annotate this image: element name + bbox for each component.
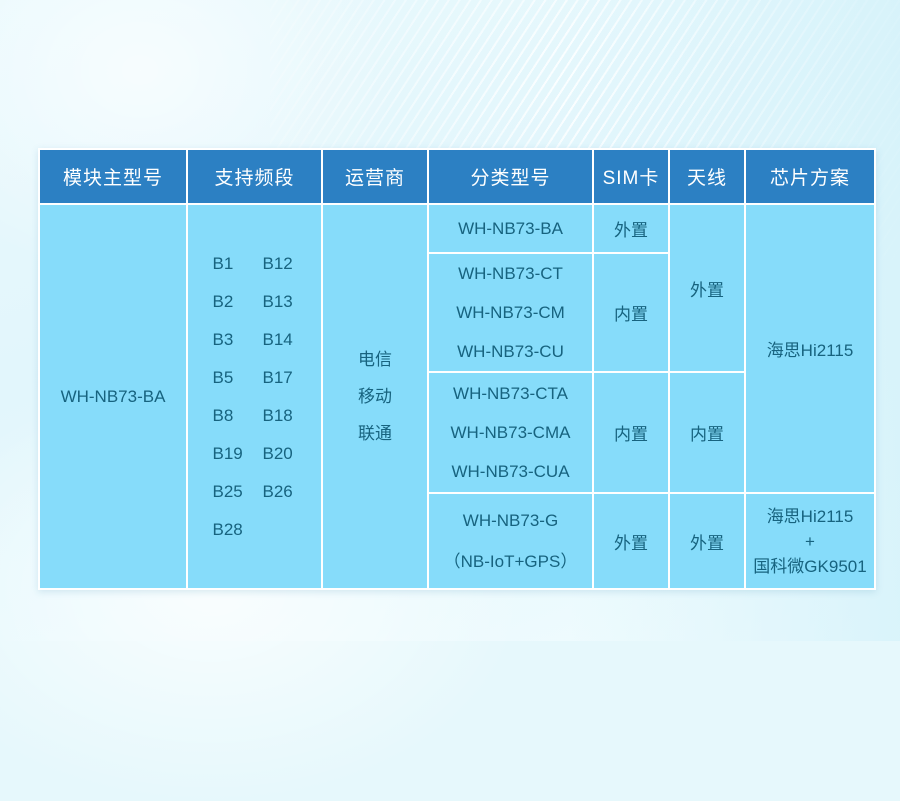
band-item: B28: [213, 511, 247, 549]
band-item: B14: [263, 321, 297, 359]
chipset-item: 海思Hi2115: [767, 504, 854, 529]
cell-sim: 内置: [593, 372, 669, 493]
header-antenna: 天线: [669, 149, 745, 204]
band-item: B12: [263, 245, 297, 283]
band-item: B13: [263, 283, 297, 321]
cell-category-models: WH-NB73-BA: [428, 204, 593, 253]
category-model-item: WH-NB73-CMA: [451, 413, 571, 452]
operator-item: 移动: [358, 378, 392, 415]
category-model-item: WH-NB73-CT: [458, 254, 563, 293]
table-header-row: 模块主型号 支持频段 运营商 分类型号 SIM卡 天线 芯片方案: [39, 149, 875, 204]
cell-sim: 外置: [593, 204, 669, 253]
header-main-model: 模块主型号: [39, 149, 187, 204]
operator-item: 联通: [358, 415, 392, 452]
category-model-list: WH-NB73-G （NB-IoT+GPS）: [429, 500, 592, 582]
category-model-list: WH-NB73-BA: [429, 209, 592, 248]
bands-grid: B1 B12 B2 B13 B3 B14 B5 B17 B8 B18 B19 B…: [188, 245, 321, 549]
cell-antenna: 外置: [669, 204, 745, 372]
band-item: B3: [213, 321, 247, 359]
header-category-model: 分类型号: [428, 149, 593, 204]
band-item: B20: [263, 435, 297, 473]
band-item: B26: [263, 473, 297, 511]
category-model-item: WH-NB73-BA: [458, 209, 563, 248]
band-item: B1: [213, 245, 247, 283]
cell-category-models: WH-NB73-CTA WH-NB73-CMA WH-NB73-CUA: [428, 372, 593, 493]
cell-sim: 外置: [593, 493, 669, 589]
category-model-list: WH-NB73-CT WH-NB73-CM WH-NB73-CU: [429, 254, 592, 371]
band-item: B2: [213, 283, 247, 321]
band-item: B17: [263, 359, 297, 397]
chipset-list: 海思Hi2115 + 国科微GK9501: [746, 504, 874, 579]
category-model-list: WH-NB73-CTA WH-NB73-CMA WH-NB73-CUA: [429, 374, 592, 491]
category-model-item: WH-NB73-G: [463, 500, 558, 541]
operator-item: 电信: [358, 341, 392, 378]
module-spec-table: 模块主型号 支持频段 运营商 分类型号 SIM卡 天线 芯片方案 WH-NB73…: [38, 148, 876, 590]
table-row: WH-NB73-BA B1 B12 B2 B13 B3 B14 B5 B17 B…: [39, 204, 875, 253]
chipset-item: 国科微GK9501: [753, 554, 866, 579]
cell-antenna: 外置: [669, 493, 745, 589]
category-model-note: （NB-IoT+GPS）: [444, 541, 578, 582]
header-sim: SIM卡: [593, 149, 669, 204]
band-item: B8: [213, 397, 247, 435]
header-bands: 支持频段: [187, 149, 322, 204]
category-model-item: WH-NB73-CUA: [451, 452, 569, 491]
band-item: [263, 511, 297, 549]
band-item: B5: [213, 359, 247, 397]
cell-category-models: WH-NB73-CT WH-NB73-CM WH-NB73-CU: [428, 253, 593, 372]
band-item: B18: [263, 397, 297, 435]
category-model-item: WH-NB73-CM: [456, 293, 565, 332]
header-chipset: 芯片方案: [745, 149, 875, 204]
category-model-item: WH-NB73-CTA: [453, 374, 568, 413]
cell-antenna: 内置: [669, 372, 745, 493]
category-model-item: WH-NB73-CU: [457, 332, 564, 371]
band-item: B25: [213, 473, 247, 511]
header-operator: 运营商: [322, 149, 428, 204]
cell-operators: 电信 移动 联通: [322, 204, 428, 589]
cell-main-model: WH-NB73-BA: [39, 204, 187, 589]
cell-sim: 内置: [593, 253, 669, 372]
operator-list: 电信 移动 联通: [323, 341, 427, 452]
cell-chipset: 海思Hi2115 + 国科微GK9501: [745, 493, 875, 589]
cell-category-models: WH-NB73-G （NB-IoT+GPS）: [428, 493, 593, 589]
cell-bands: B1 B12 B2 B13 B3 B14 B5 B17 B8 B18 B19 B…: [187, 204, 322, 589]
chipset-plus: +: [805, 529, 815, 554]
cell-chipset: 海思Hi2115: [745, 204, 875, 493]
band-item: B19: [213, 435, 247, 473]
